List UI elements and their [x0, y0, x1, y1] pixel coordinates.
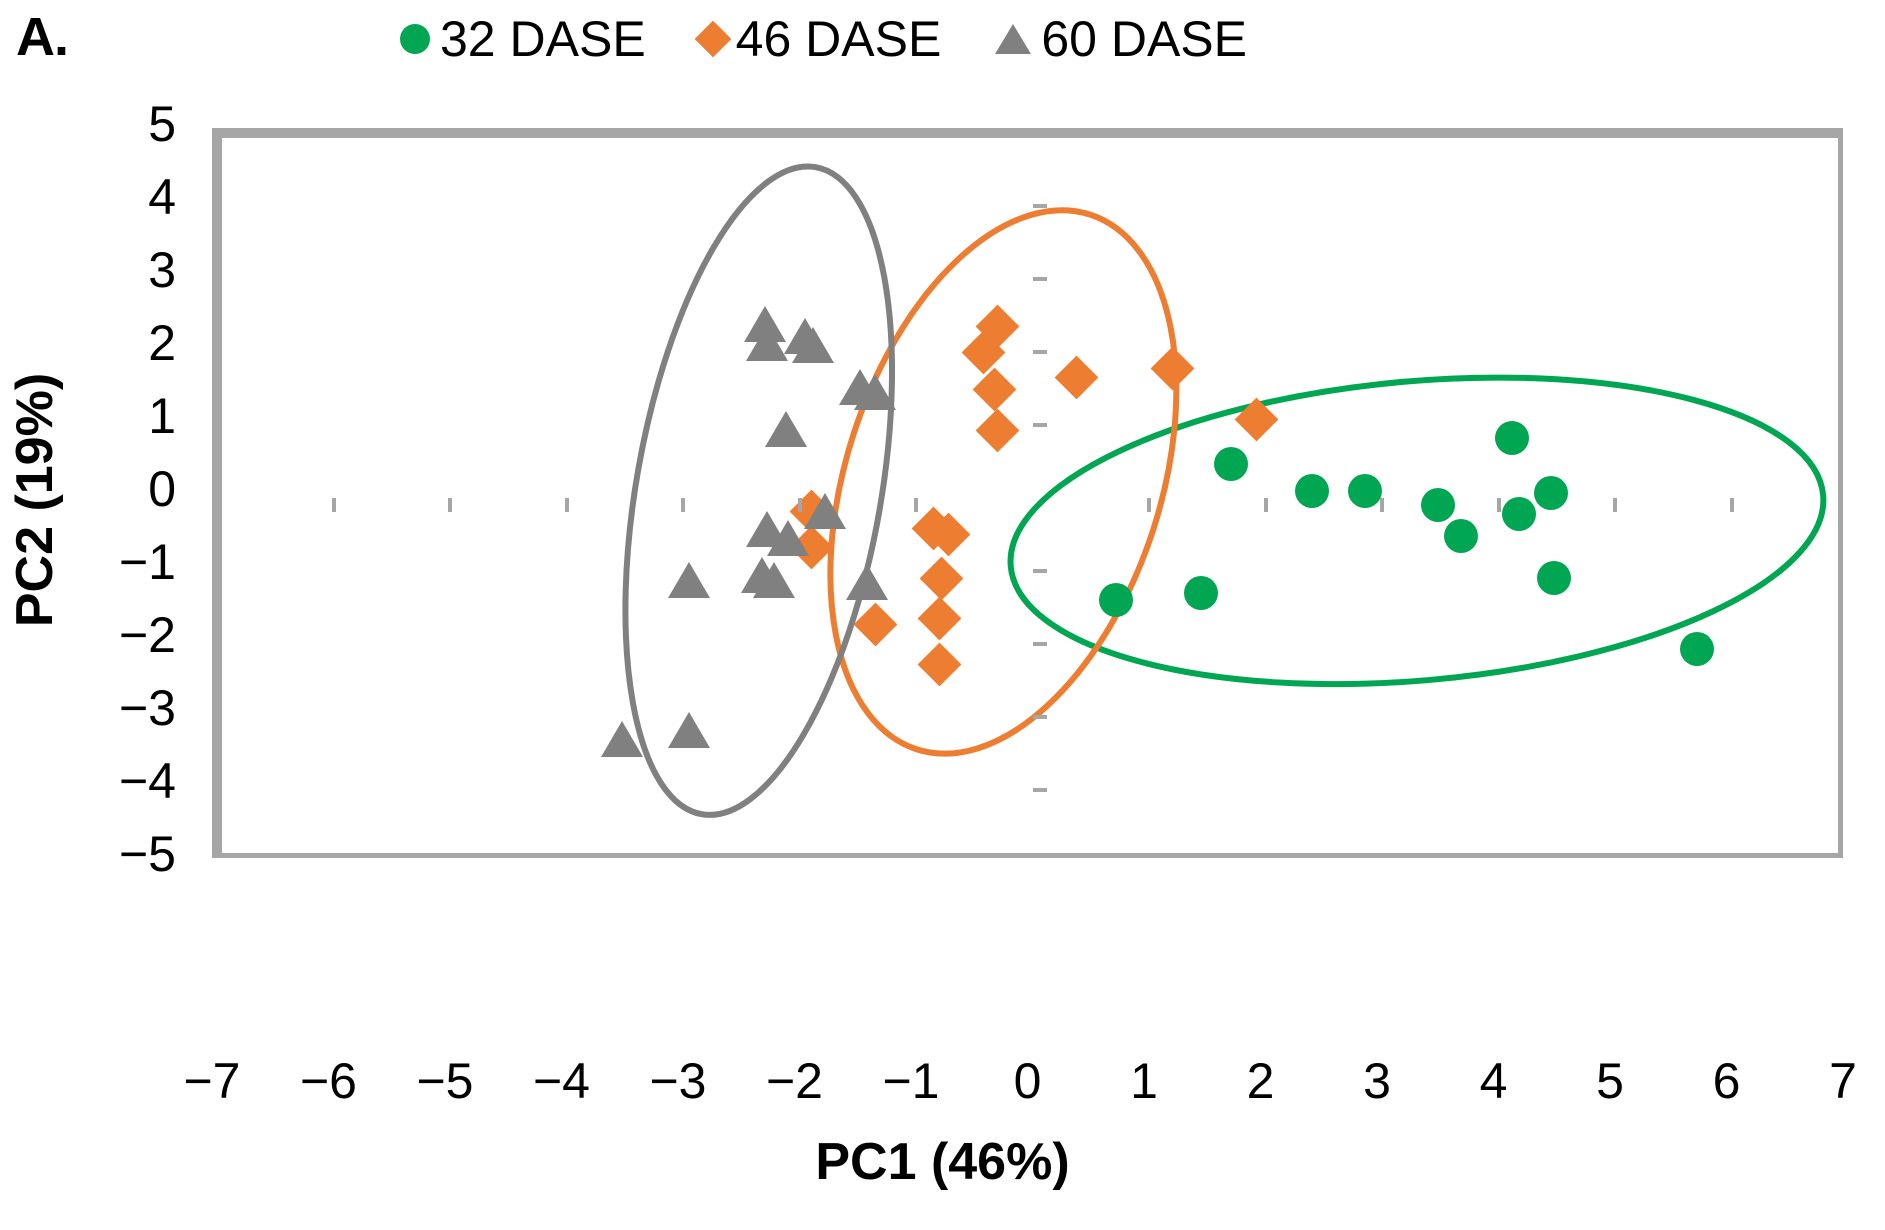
data-point-diamond [972, 368, 1016, 412]
data-point-triangle [854, 374, 896, 410]
x-tick-label: 0 [968, 1052, 1088, 1110]
x-tick-label: −5 [385, 1052, 505, 1110]
legend-item-label: 60 DASE [1041, 14, 1247, 64]
y-tick [1033, 204, 1047, 208]
data-point-circle [1495, 421, 1529, 455]
y-tick [1033, 350, 1047, 354]
data-point-triangle [753, 562, 795, 598]
x-tick [798, 498, 802, 512]
x-tick [681, 498, 685, 512]
x-tick [1380, 498, 1384, 512]
x-tick [1147, 498, 1151, 512]
data-point-triangle [668, 712, 710, 748]
plot-inner [217, 133, 1838, 853]
data-point-diamond [1150, 346, 1194, 390]
x-tick [448, 498, 452, 512]
data-point-circle [1184, 576, 1218, 610]
circle-marker-icon [400, 24, 430, 54]
chart-legend: 32 DASE46 DASE60 DASE [400, 14, 1247, 64]
data-point-triangle [668, 562, 710, 598]
diamond-marker-icon [694, 21, 731, 58]
y-tick-label: −5 [36, 825, 176, 883]
x-tick-label: −6 [269, 1052, 389, 1110]
x-tick-label: −7 [152, 1052, 272, 1110]
y-tick-label: 4 [36, 168, 176, 226]
x-tick [217, 498, 219, 512]
y-tick-label: 5 [36, 95, 176, 153]
x-tick-label: −3 [618, 1052, 738, 1110]
ellipse-46-dase [767, 166, 1240, 798]
data-point-circle [1348, 474, 1382, 508]
y-tick [1033, 715, 1047, 719]
x-tick-label: −4 [502, 1052, 622, 1110]
x-tick [1497, 498, 1501, 512]
data-point-triangle [792, 327, 834, 363]
data-point-triangle [846, 564, 888, 600]
data-point-diamond [917, 597, 961, 641]
data-point-diamond [853, 602, 897, 646]
x-tick [1613, 498, 1617, 512]
legend-item-label: 46 DASE [736, 14, 942, 64]
x-axis-zero-line [217, 133, 1838, 138]
y-axis-title: PC2 (19%) [5, 240, 65, 760]
x-tick [565, 498, 569, 512]
legend-item-46-dase[interactable]: 46 DASE [700, 14, 942, 64]
y-tick [1033, 133, 1047, 135]
legend-item-label: 32 DASE [440, 14, 646, 64]
x-tick [332, 498, 336, 512]
data-point-diamond [1055, 356, 1099, 400]
data-point-circle [1444, 519, 1478, 553]
x-axis-title: PC1 (46%) [0, 1132, 1885, 1192]
data-point-diamond [917, 643, 961, 687]
data-point-triangle [767, 520, 809, 556]
data-point-circle [1214, 447, 1248, 481]
panel-label: A. [16, 6, 68, 68]
y-tick [1033, 423, 1047, 427]
y-tick [1033, 788, 1047, 792]
data-point-diamond [920, 556, 964, 600]
data-point-circle [1099, 583, 1133, 617]
data-point-circle [1295, 474, 1329, 508]
x-tick-label: 5 [1550, 1052, 1670, 1110]
data-point-diamond [1234, 397, 1278, 441]
x-tick-label: 3 [1317, 1052, 1437, 1110]
x-tick-label: 2 [1201, 1052, 1321, 1110]
x-tick [1730, 498, 1734, 512]
plot-area [212, 128, 1843, 858]
data-point-circle [1537, 561, 1571, 595]
legend-item-60-dase[interactable]: 60 DASE [995, 14, 1247, 64]
y-axis-zero-line [217, 133, 222, 853]
data-point-circle [1680, 632, 1714, 666]
data-point-diamond [976, 408, 1020, 452]
data-point-triangle [746, 325, 788, 361]
confidence-ellipses [217, 133, 1838, 853]
data-point-circle [1421, 488, 1455, 522]
data-point-triangle [765, 411, 807, 447]
x-tick [914, 498, 918, 512]
x-tick-label: 1 [1084, 1052, 1204, 1110]
data-point-triangle [804, 493, 846, 529]
x-tick-label: 7 [1783, 1052, 1885, 1110]
x-tick-label: 6 [1667, 1052, 1787, 1110]
y-tick-label: −4 [36, 752, 176, 810]
chart-figure: A. 32 DASE46 DASE60 DASE −7−6−5−4−3−2−10… [0, 0, 1885, 1230]
x-tick-label: −1 [851, 1052, 971, 1110]
triangle-marker-icon [995, 24, 1031, 54]
y-tick [1033, 642, 1047, 646]
x-tick-label: −2 [735, 1052, 855, 1110]
ellipse-32-dase [998, 346, 1836, 715]
legend-item-32-dase[interactable]: 32 DASE [400, 14, 646, 64]
x-tick [1264, 498, 1268, 512]
data-point-circle [1502, 497, 1536, 531]
data-point-triangle [601, 721, 643, 757]
y-tick [1033, 569, 1047, 573]
y-tick [1033, 277, 1047, 281]
data-point-circle [1534, 476, 1568, 510]
x-tick-label: 4 [1434, 1052, 1554, 1110]
